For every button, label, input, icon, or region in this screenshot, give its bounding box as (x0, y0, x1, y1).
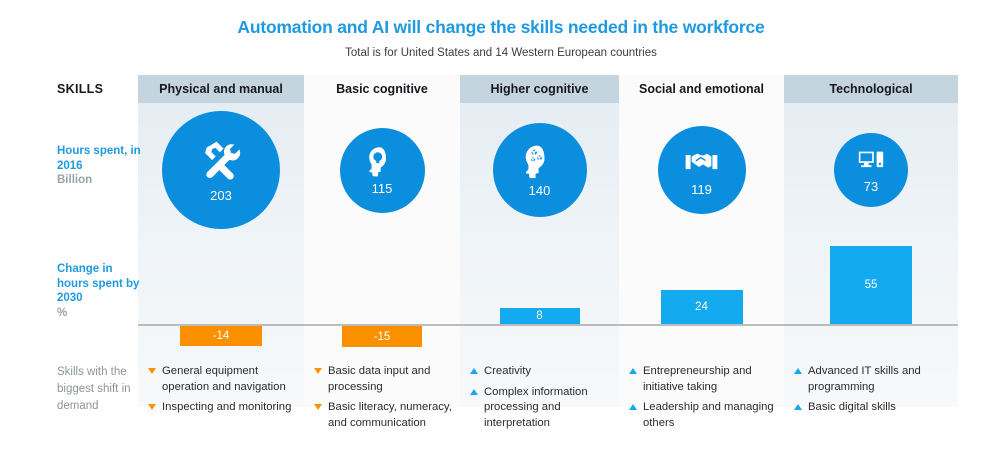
hours-spent-row-label: Hours spent, in 2016 Billion (57, 144, 147, 188)
triangle-up-icon (629, 368, 637, 374)
skill-label: Entrepreneurship and initiative taking (643, 365, 752, 393)
list-item: Basic data input and processing (314, 364, 456, 395)
triangle-down-icon (314, 404, 322, 410)
hours-circle-3: 140 (493, 123, 587, 217)
change-bar-1: -14 (180, 326, 262, 346)
handshake-icon (684, 144, 719, 179)
column-header-1: Physical and manual (138, 75, 304, 103)
triangle-down-icon (314, 368, 322, 374)
column-header-3: Higher cognitive (460, 75, 619, 103)
hours-value-2: 115 (372, 181, 393, 196)
skill-label: Inspecting and monitoring (162, 401, 291, 413)
skill-label: Creativity (484, 365, 531, 377)
skill-label: Basic data input and processing (328, 365, 430, 393)
wrench-screwdriver-icon (198, 138, 245, 185)
head-gears-icon (521, 142, 559, 180)
list-item: Complex information processing and inter… (470, 385, 615, 432)
skills-list-1: General equipment operation and navigati… (148, 364, 300, 421)
hours-value-4: 119 (691, 182, 712, 197)
page-title: Automation and AI will change the skills… (0, 17, 1002, 38)
change-hours-label-text: Change in hours spent by 2030 (57, 263, 139, 304)
column-header-2: Basic cognitive (304, 75, 460, 103)
triangle-down-icon (148, 368, 156, 374)
skill-label: Basic literacy, numeracy, and communicat… (328, 401, 452, 429)
biggest-shift-row-label: Skills with the biggest shift in demand (57, 364, 149, 415)
skill-label: Basic digital skills (808, 401, 896, 413)
column-header-4: Social and emotional (619, 75, 784, 103)
triangle-down-icon (148, 404, 156, 410)
skills-list-2: Basic data input and processingBasic lit… (314, 364, 456, 436)
change-hours-row-label: Change in hours spent by 2030 % (57, 262, 147, 320)
change-bar-5: 55 (830, 246, 912, 324)
change-bar-4: 24 (661, 290, 743, 324)
hours-spent-unit: Billion (57, 173, 147, 188)
skill-label: Complex information processing and inter… (484, 386, 588, 429)
skills-list-5: Advanced IT skills and programmingBasic … (794, 364, 954, 421)
list-item: Leadership and managing others (629, 400, 780, 431)
list-item: Creativity (470, 364, 615, 380)
skills-axis-label: SKILLS (57, 82, 103, 96)
page-subtitle: Total is for United States and 14 Wester… (0, 47, 1002, 59)
list-item: Basic literacy, numeracy, and communicat… (314, 400, 456, 431)
skills-list-4: Entrepreneurship and initiative takingLe… (629, 364, 780, 436)
skills-list-3: CreativityComplex information processing… (470, 364, 615, 436)
column-band-5 (784, 75, 958, 407)
triangle-up-icon (470, 389, 478, 395)
hours-value-5: 73 (864, 179, 878, 194)
column-band-4 (619, 75, 784, 407)
hours-circle-5: 73 (834, 133, 908, 207)
skill-label: Advanced IT skills and programming (808, 365, 921, 393)
list-item: Entrepreneurship and initiative taking (629, 364, 780, 395)
column-band-2 (304, 75, 460, 407)
change-bar-2: -15 (342, 326, 422, 347)
list-item: Inspecting and monitoring (148, 400, 300, 416)
hours-value-3: 140 (529, 183, 551, 198)
triangle-up-icon (794, 368, 802, 374)
triangle-up-icon (629, 404, 637, 410)
list-item: Basic digital skills (794, 400, 954, 416)
hours-spent-label-text: Hours spent, in 2016 (57, 145, 141, 172)
head-lightbulb-icon (365, 144, 399, 178)
list-item: Advanced IT skills and programming (794, 364, 954, 395)
column-header-5: Technological (784, 75, 958, 103)
hours-circle-4: 119 (658, 126, 746, 214)
desktop-computer-icon (856, 146, 886, 176)
skill-label: Leadership and managing others (643, 401, 774, 429)
hours-value-1: 203 (210, 188, 232, 203)
triangle-up-icon (794, 404, 802, 410)
hours-circle-2: 115 (340, 128, 425, 213)
list-item: General equipment operation and navigati… (148, 364, 300, 395)
change-bar-3: 8 (500, 308, 580, 324)
skill-label: General equipment operation and navigati… (162, 365, 286, 393)
hours-circle-1: 203 (162, 111, 280, 229)
change-hours-unit: % (57, 306, 147, 321)
triangle-up-icon (470, 368, 478, 374)
